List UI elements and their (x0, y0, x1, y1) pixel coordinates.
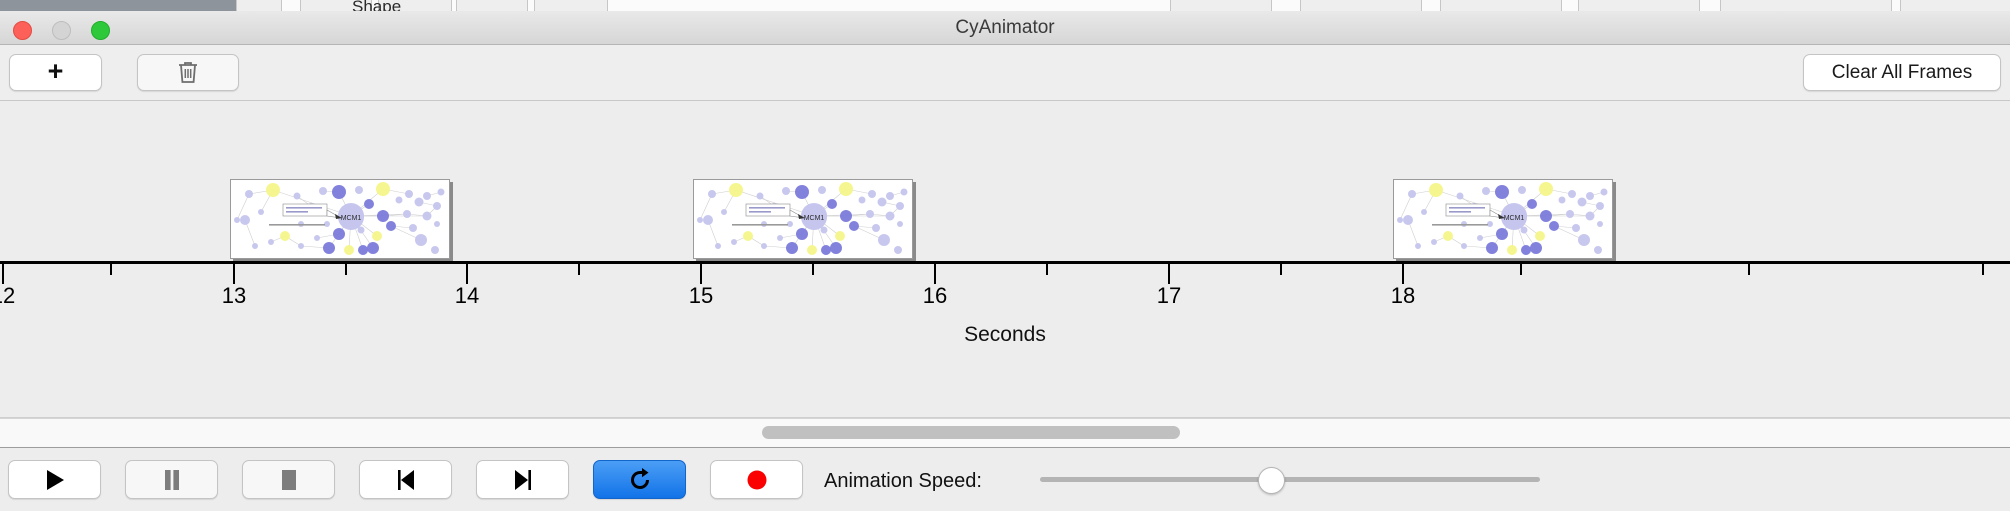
axis-tick-18 (1402, 264, 1404, 284)
animation-speed-slider[interactable] (1040, 477, 1540, 482)
timeline-scrollbar-thumb[interactable] (762, 426, 1180, 439)
loop-icon (627, 467, 653, 493)
axis-tick-label-12: 12 (0, 283, 33, 309)
network-graph-thumbnail: MCM1 (694, 180, 912, 258)
network-graph-thumbnail: MCM1 (231, 180, 449, 258)
trash-icon (177, 60, 199, 85)
playback-toolbar: Animation Speed: (0, 447, 2010, 511)
axis-minor-tick-1 (110, 264, 112, 275)
axis-tick-label-13: 13 (204, 283, 264, 309)
record-button[interactable] (710, 460, 803, 499)
play-icon (44, 468, 66, 492)
delete-frame-button[interactable] (137, 54, 239, 91)
axis-minor-tick-3 (578, 264, 580, 275)
axis-minor-tick-5 (1046, 264, 1048, 275)
record-icon (745, 468, 769, 492)
window-titlebar[interactable]: CyAnimator (0, 11, 2010, 45)
loop-button[interactable] (593, 460, 686, 499)
axis-minor-tick-8 (1748, 264, 1750, 275)
hub-node-label: MCM1 (1504, 215, 1525, 222)
tooltip-callout (283, 204, 327, 216)
timeline-scrollbar[interactable] (0, 418, 2010, 448)
add-frame-button[interactable]: + (9, 54, 102, 91)
frame-thumbnail-3[interactable]: MCM1 (1393, 179, 1613, 259)
timeline-axis-title: Seconds (0, 323, 2010, 347)
axis-minor-tick-9 (1982, 264, 1984, 275)
stop-button[interactable] (242, 460, 335, 499)
axis-tick-label-18: 18 (1373, 283, 1433, 309)
clear-all-frames-label: Clear All Frames (1832, 62, 1972, 84)
skip-to-start-button[interactable] (359, 460, 452, 499)
axis-tick-17 (1168, 264, 1170, 284)
pause-button[interactable] (125, 460, 218, 499)
stop-icon (278, 468, 300, 492)
play-button[interactable] (8, 460, 101, 499)
axis-tick-13 (233, 264, 235, 284)
animation-speed-label: Animation Speed: (824, 470, 982, 493)
plus-icon: + (48, 58, 64, 85)
hub-node-label: MCM1 (341, 215, 362, 222)
axis-minor-tick-7 (1520, 264, 1522, 275)
frame-thumbnail-2[interactable]: MCM1 (693, 179, 913, 259)
network-graph-thumbnail: MCM1 (1394, 180, 1612, 258)
clear-all-frames-button[interactable]: Clear All Frames (1803, 54, 2001, 91)
timeline-panel[interactable]: MCM1MCM1MCM1 12131415161718 Seconds (0, 101, 2010, 418)
animation-speed-slider-knob[interactable] (1258, 467, 1285, 494)
axis-tick-16 (934, 264, 936, 284)
skip-to-end-button[interactable] (476, 460, 569, 499)
axis-tick-label-15: 15 (671, 283, 731, 309)
skip-forward-icon (512, 468, 534, 492)
axis-minor-tick-4 (812, 264, 814, 275)
axis-tick-15 (700, 264, 702, 284)
axis-tick-14 (466, 264, 468, 284)
axis-tick-label-14: 14 (437, 283, 497, 309)
skip-back-icon (395, 468, 417, 492)
background-dark-bar (0, 0, 236, 11)
pause-icon (161, 468, 183, 492)
timeline-track[interactable]: MCM1MCM1MCM1 12131415161718 Seconds (0, 101, 2010, 417)
axis-minor-tick-2 (345, 264, 347, 275)
hub-node-label: MCM1 (804, 215, 825, 222)
tooltip-callout (1446, 204, 1490, 216)
axis-tick-label-17: 17 (1139, 283, 1199, 309)
axis-tick-12 (2, 264, 4, 284)
tooltip-callout (746, 204, 790, 216)
toolbar: + Clear All Frames (0, 45, 2010, 101)
cyanimator-window: CyAnimator + Clear All Frames MCM1MCM1MC… (0, 11, 2010, 510)
axis-tick-label-16: 16 (905, 283, 965, 309)
window-title: CyAnimator (0, 17, 2010, 39)
axis-minor-tick-6 (1280, 264, 1282, 275)
timeline-axis-line (0, 261, 2010, 264)
frame-thumbnail-1[interactable]: MCM1 (230, 179, 450, 259)
